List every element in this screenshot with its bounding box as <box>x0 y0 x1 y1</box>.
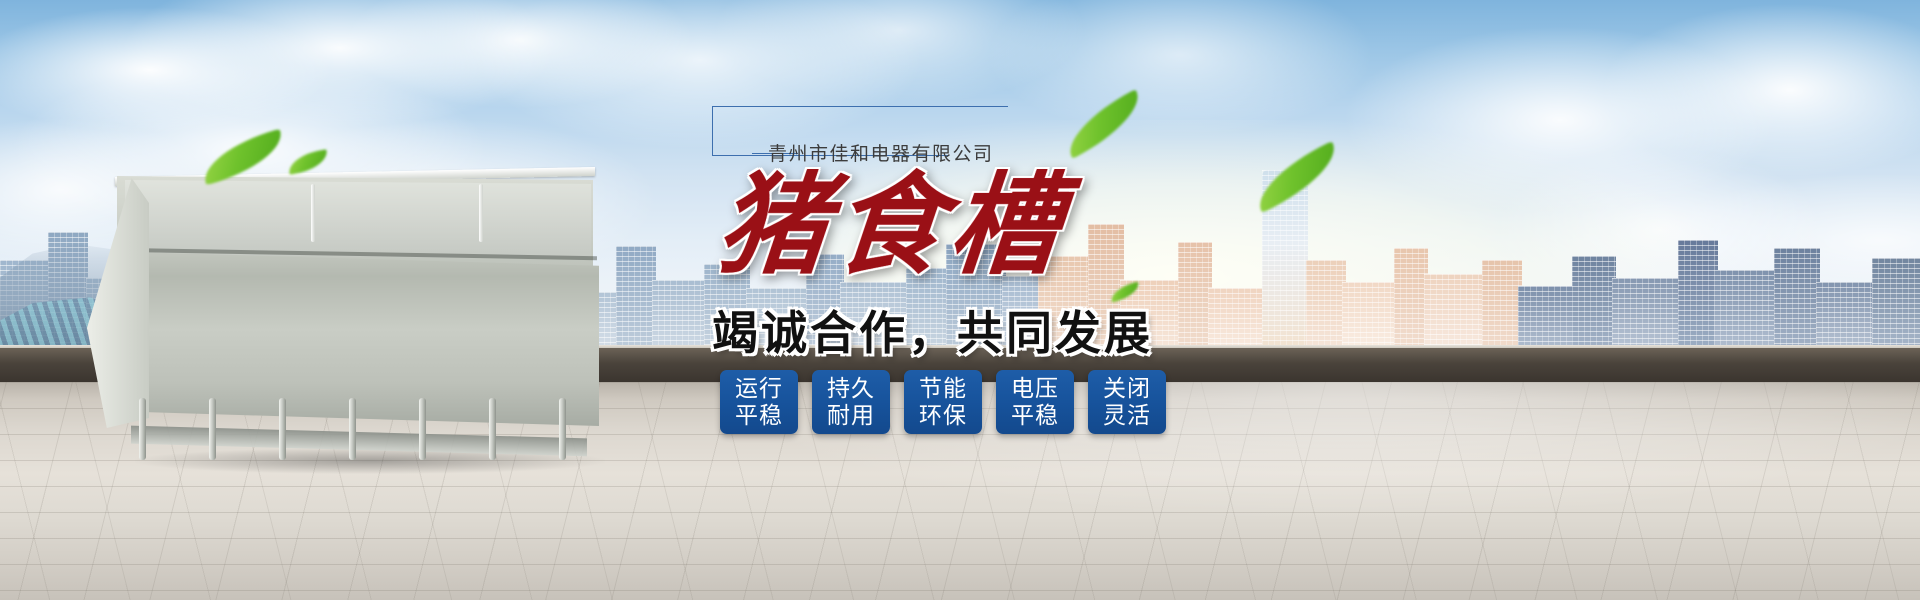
slogan-text: 竭诚合作，共同发展 <box>712 297 1153 363</box>
trough-bar <box>279 398 286 460</box>
feature-badge[interactable]: 运行 平稳 <box>720 370 798 434</box>
feature-badge-line2: 平稳 <box>1011 402 1059 429</box>
feature-badge[interactable]: 关闭 灵活 <box>1088 370 1166 434</box>
trough-bar <box>349 398 356 460</box>
trough-bar <box>419 398 426 460</box>
feature-badge[interactable]: 持久 耐用 <box>812 370 890 434</box>
trough-inner-divider <box>311 184 315 242</box>
feature-badge-line2: 灵活 <box>1103 402 1151 429</box>
feature-badge-line1: 电压 <box>1011 375 1059 402</box>
feature-badge-line1: 运行 <box>735 375 783 402</box>
company-name-row: 青州市佳和电器有限公司 <box>700 106 1120 162</box>
feature-badge[interactable]: 电压 平稳 <box>996 370 1074 434</box>
feature-badge[interactable]: 节能 环保 <box>904 370 982 434</box>
trough-bar <box>139 398 146 460</box>
trough-bar <box>489 398 496 460</box>
pig-feeding-trough-product <box>75 160 635 460</box>
trough-divider-bars <box>133 388 583 460</box>
decorative-bracket-top-line <box>948 106 1008 107</box>
banner-text-block: 青州市佳和电器有限公司 猪食槽 竭诚合作，共同发展 运行 平稳 持久 耐用 节能… <box>690 92 1250 552</box>
feature-badge-line2: 环保 <box>919 402 967 429</box>
feature-badge-line1: 关闭 <box>1103 375 1151 402</box>
trough-bar <box>209 398 216 460</box>
promotional-banner: 青州市佳和电器有限公司 猪食槽 竭诚合作，共同发展 运行 平稳 持久 耐用 节能… <box>0 0 1920 600</box>
feature-badge-line2: 平稳 <box>735 402 783 429</box>
feature-badge-line1: 节能 <box>919 375 967 402</box>
feature-badge-line2: 耐用 <box>827 402 875 429</box>
trough-bar <box>559 398 566 460</box>
feature-badge-list: 运行 平稳 持久 耐用 节能 环保 电压 平稳 关闭 灵活 <box>720 370 1166 434</box>
product-title: 猪食槽 <box>713 170 1071 280</box>
trough-inner-divider <box>479 184 483 242</box>
trough-inner-surface <box>125 180 591 260</box>
feature-badge-line1: 持久 <box>827 375 875 402</box>
